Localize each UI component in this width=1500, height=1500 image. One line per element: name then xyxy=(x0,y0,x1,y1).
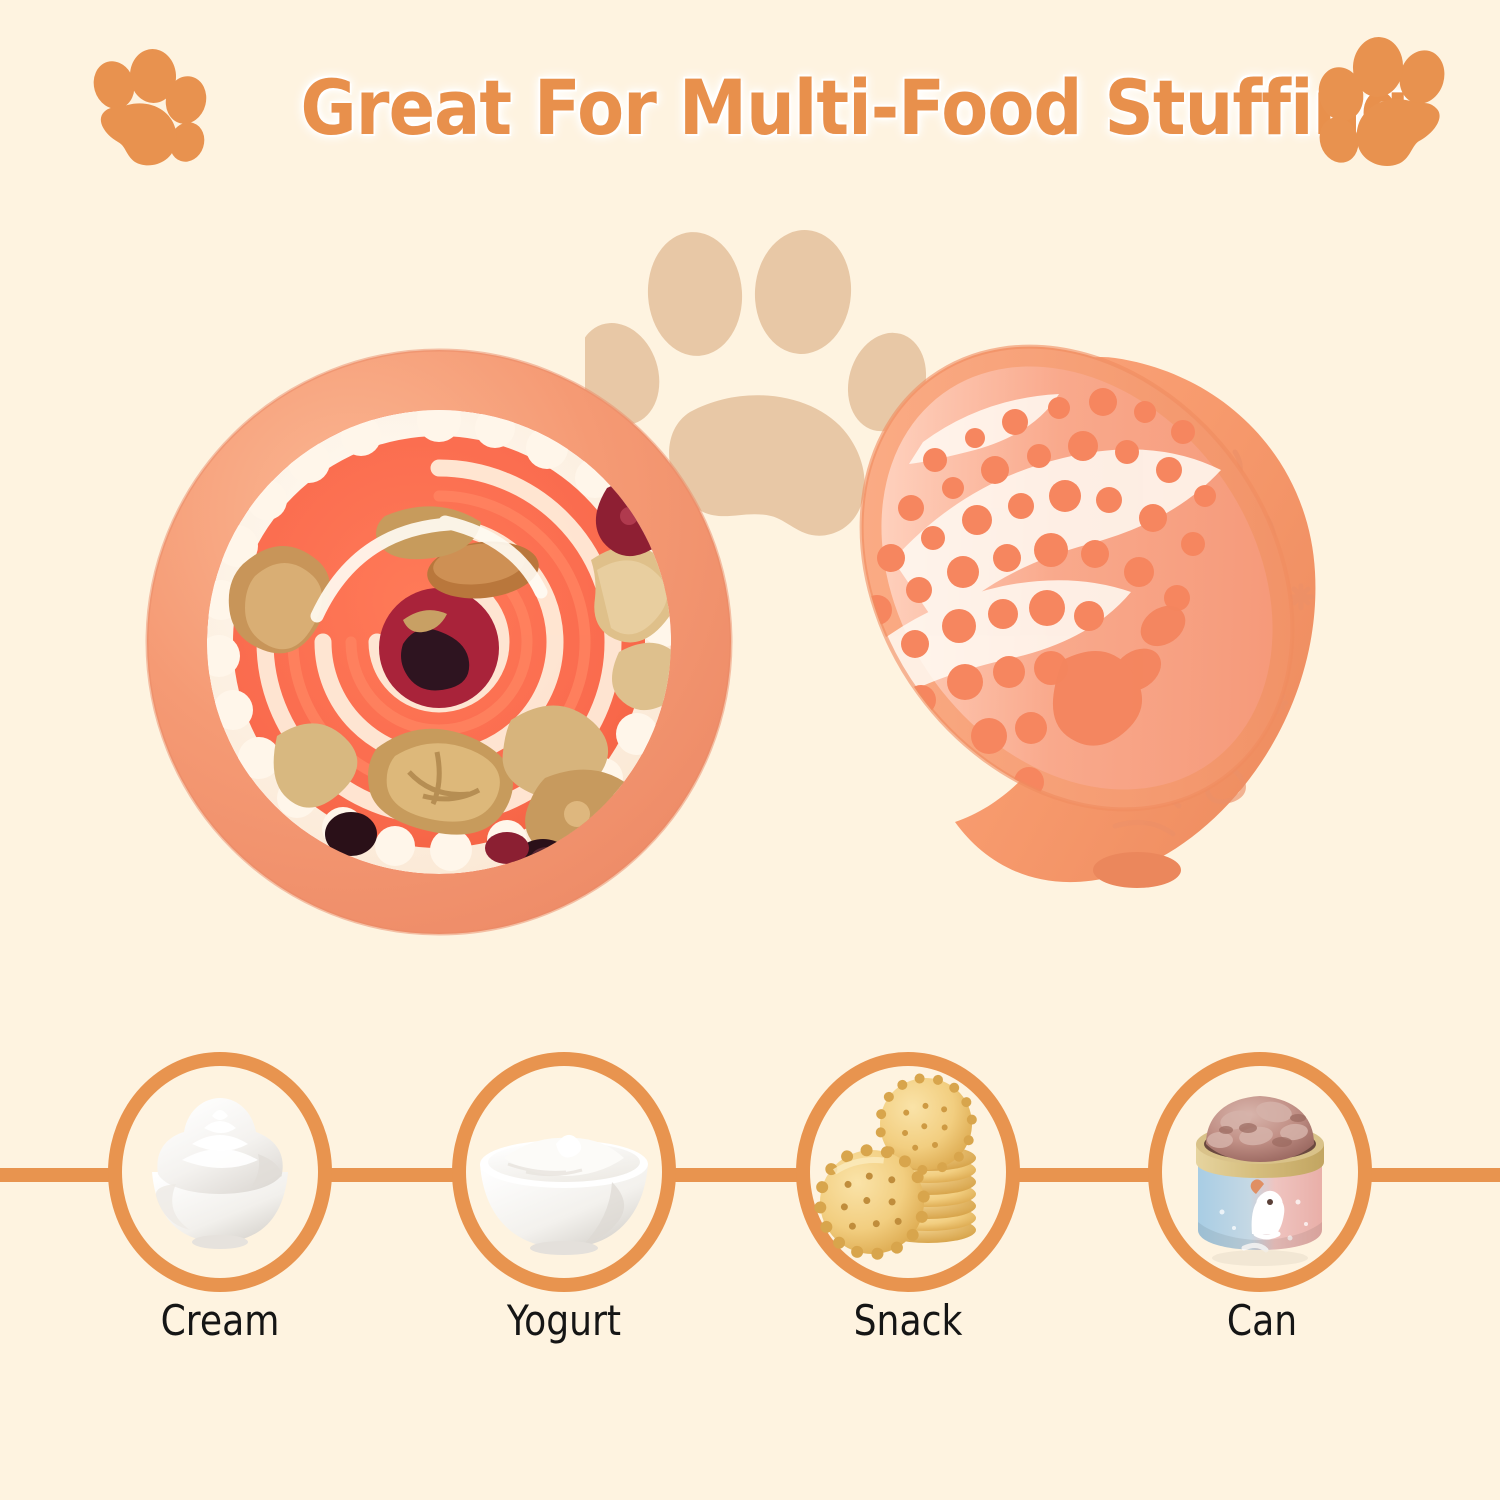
food-node-snack[interactable] xyxy=(796,1052,1020,1292)
paw-print-icon-right xyxy=(1302,32,1454,184)
cracker-stack-icon xyxy=(796,1052,1020,1292)
tilted-slow-feeder-bowl xyxy=(815,330,1375,900)
whipped-cream-bowl-icon xyxy=(108,1052,332,1292)
filled-slow-feeder-bowl xyxy=(145,348,733,936)
food-label-can: Can xyxy=(1133,1296,1391,1345)
food-label-snack: Snack xyxy=(779,1296,1037,1345)
food-node-cream[interactable] xyxy=(108,1052,332,1292)
food-label-cream: Cream xyxy=(91,1296,349,1345)
page-title: Great For Multi-Food Stuffing xyxy=(301,58,1210,158)
food-label-yogurt: Yogurt xyxy=(435,1296,693,1345)
yogurt-bowl-icon xyxy=(452,1052,676,1292)
food-node-yogurt[interactable] xyxy=(452,1052,676,1292)
pet-food-can-icon xyxy=(1148,1052,1372,1292)
header-banner: Great For Multi-Food Stuffing xyxy=(0,0,1500,200)
paw-print-icon-left xyxy=(82,44,214,176)
food-node-can[interactable] xyxy=(1148,1052,1372,1292)
